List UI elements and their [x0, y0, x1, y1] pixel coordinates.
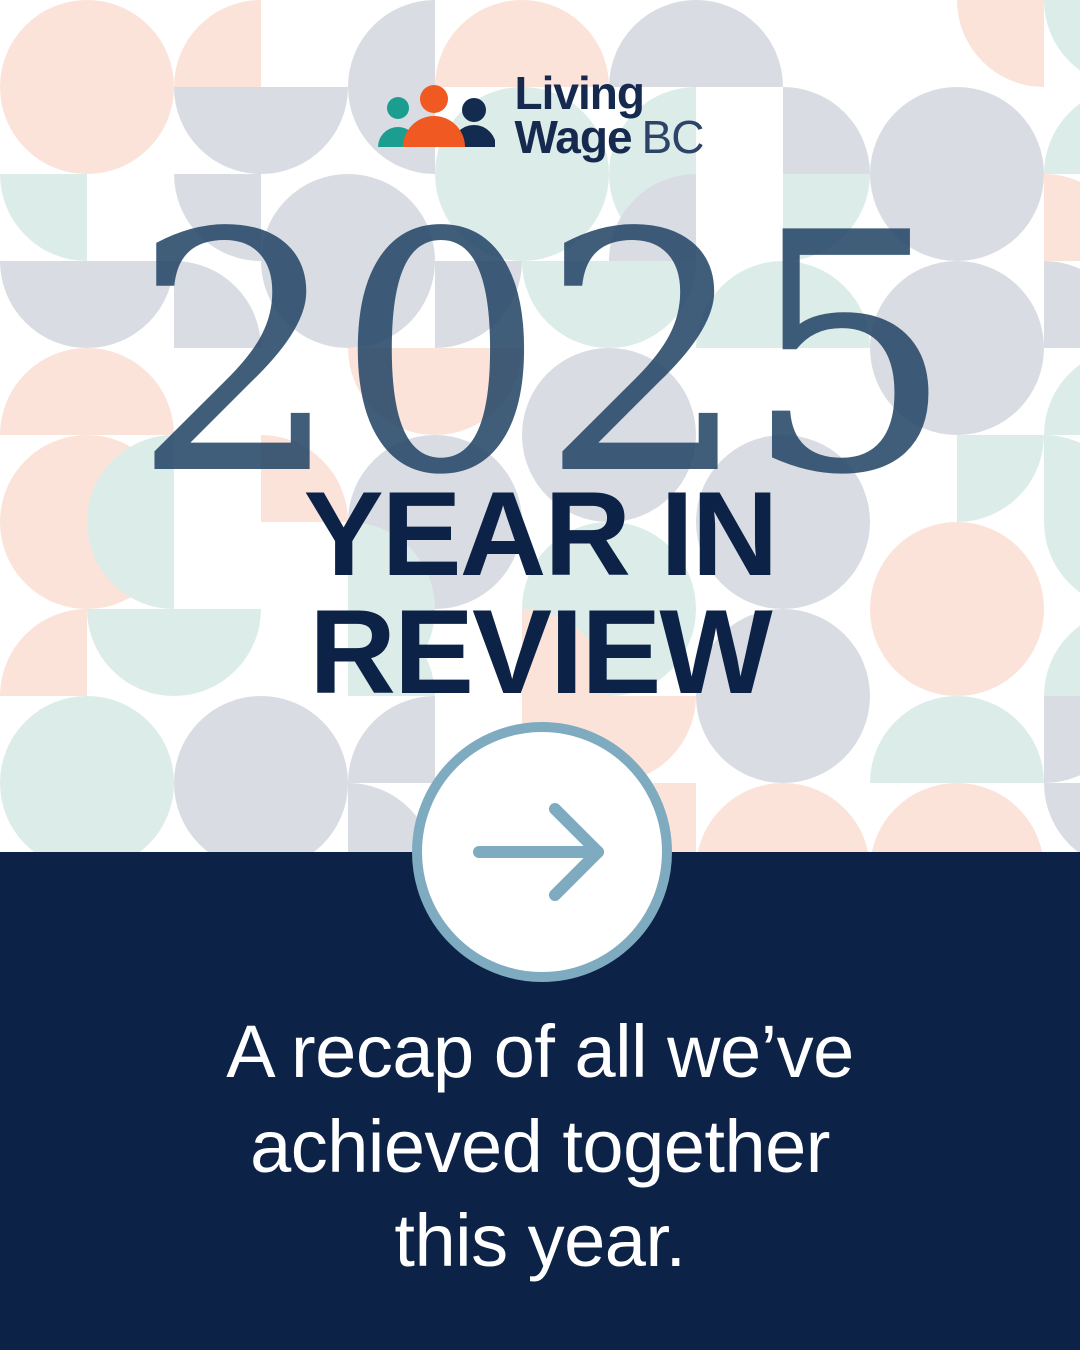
post-canvas: Living WageBC 2025 YEAR IN REVIEW A reca… — [0, 0, 1080, 1350]
brand-name-line2: WageBC — [515, 116, 704, 160]
page-title: YEAR IN REVIEW — [0, 476, 1080, 711]
tagline-line-3: this year. — [90, 1194, 990, 1289]
tagline-line-2: achieved together — [90, 1100, 990, 1195]
headline-line-2: REVIEW — [0, 594, 1080, 712]
headline-line-1: YEAR IN — [0, 476, 1080, 594]
brand-name-bc: BC — [642, 111, 704, 163]
brand-name-wage: Wage — [515, 111, 632, 163]
tagline-line-1: A recap of all we’ve — [90, 1005, 990, 1100]
brand-name-line1: Living — [515, 72, 704, 116]
three-people-icon — [377, 85, 495, 147]
swipe-next-button[interactable] — [412, 722, 672, 982]
brand-wordmark: Living WageBC — [515, 72, 704, 159]
brand-logo: Living WageBC — [0, 72, 1080, 159]
tagline: A recap of all we’ve achieved together t… — [90, 1005, 990, 1289]
arrow-right-icon — [467, 797, 617, 907]
